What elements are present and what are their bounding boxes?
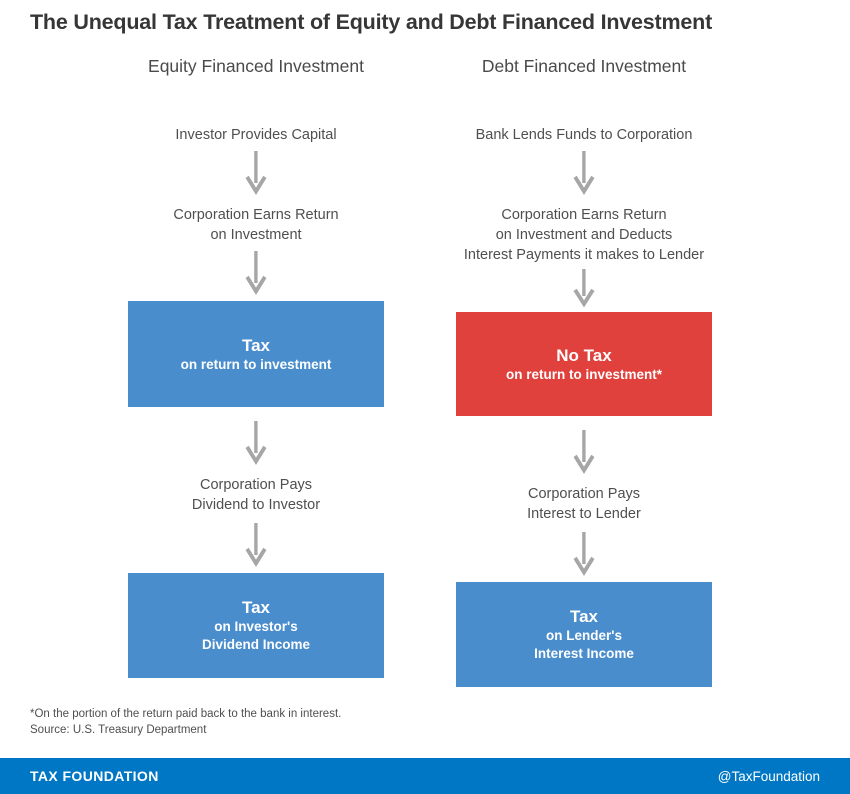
down-arrow-icon	[569, 269, 599, 311]
footnote-asterisk: *On the portion of the return paid back …	[30, 706, 341, 722]
down-arrow-icon	[569, 532, 599, 580]
step-text-investor-provides-capital: Investor Provides Capital	[106, 125, 406, 145]
flow-box-tax-on-lenders-interest-income: Tax on Lender's Interest Income	[456, 582, 712, 687]
down-arrow-icon	[241, 151, 271, 199]
down-arrow-icon	[241, 421, 271, 469]
column-equity-financed: Equity Financed Investment Investor Prov…	[106, 55, 406, 678]
step-text-corporation-earns-return-deducts: Corporation Earns Return on Investment a…	[414, 205, 754, 265]
flow-box-subtitle: on Investor's Dividend Income	[202, 618, 310, 654]
down-arrow-icon	[569, 151, 599, 199]
flow-box-subtitle: on return to investment	[181, 356, 332, 374]
step-text-bank-lends-funds: Bank Lends Funds to Corporation	[434, 125, 734, 145]
down-arrow-icon	[241, 251, 271, 299]
footer-social-handle[interactable]: @TaxFoundation	[718, 769, 820, 784]
column-title-debt: Debt Financed Investment	[434, 55, 734, 77]
footer-brand-logo: TAX FOUNDATION	[30, 768, 159, 784]
column-debt-financed: Debt Financed Investment Bank Lends Fund…	[434, 55, 734, 687]
flow-box-subtitle: on Lender's Interest Income	[534, 627, 634, 663]
down-arrow-icon	[241, 523, 271, 571]
column-title-equity: Equity Financed Investment	[106, 55, 406, 77]
footnotes: *On the portion of the return paid back …	[30, 706, 341, 738]
flow-box-tax-on-investors-dividend-income: Tax on Investor's Dividend Income	[128, 573, 384, 678]
flow-box-no-tax-on-return-to-investment: No Tax on return to investment*	[456, 312, 712, 416]
step-text-corporation-pays-dividend: Corporation Pays Dividend to Investor	[106, 475, 406, 515]
flow-box-tax-on-return-to-investment: Tax on return to investment	[128, 301, 384, 407]
step-text-corporation-pays-interest: Corporation Pays Interest to Lender	[434, 484, 734, 524]
step-text-corporation-earns-return: Corporation Earns Return on Investment	[106, 205, 406, 245]
down-arrow-icon	[569, 430, 599, 478]
flow-box-subtitle: on return to investment*	[506, 366, 662, 384]
footer-bar: TAX FOUNDATION @TaxFoundation	[0, 758, 850, 794]
flow-box-title: Tax	[242, 597, 270, 618]
page-title: The Unequal Tax Treatment of Equity and …	[30, 10, 712, 35]
flow-box-title: Tax	[242, 335, 270, 356]
source-line: Source: U.S. Treasury Department	[30, 722, 341, 738]
flow-box-title: No Tax	[556, 345, 611, 366]
flow-box-title: Tax	[570, 606, 598, 627]
